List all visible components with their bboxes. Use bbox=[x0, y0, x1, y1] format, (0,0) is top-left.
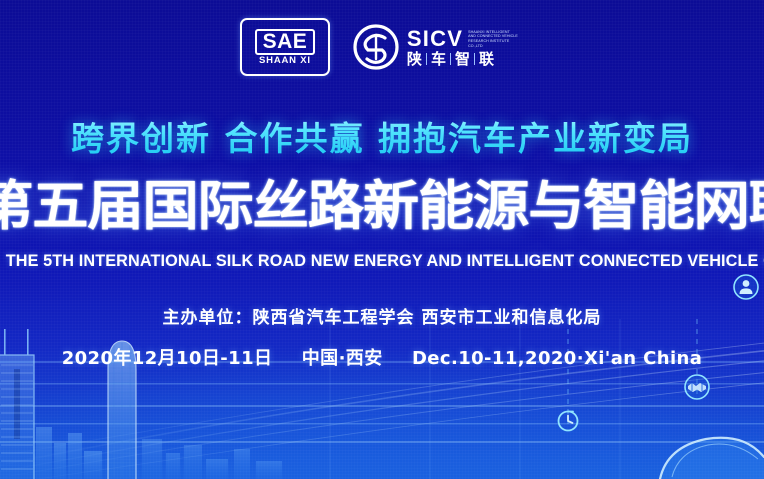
car-silhouette bbox=[660, 438, 764, 479]
person-icon bbox=[731, 272, 761, 302]
sicv-cn-char-2: 车 bbox=[431, 52, 446, 67]
page-title: 第五届国际丝路新能源与智能网联汽车大会 bbox=[0, 178, 764, 235]
vertical-guides bbox=[330, 319, 620, 479]
tagline: 跨界创新 合作共赢 拥抱汽车产业新变局 bbox=[0, 112, 764, 160]
date-en: Dec.10-11,2020·Xi'an China bbox=[412, 348, 702, 369]
handshake-icon bbox=[682, 372, 712, 402]
city-blocks-mid bbox=[142, 439, 282, 479]
sae-shaanxi-logo: SAE SHAAN XI bbox=[240, 18, 330, 76]
sicv-cn-char-3: 智 bbox=[455, 52, 470, 67]
sicv-cn-char-1: 陕 bbox=[407, 52, 422, 67]
city-blocks-left bbox=[36, 427, 102, 479]
sicv-chinese-name: 陕车智联 bbox=[407, 52, 524, 67]
page-subtitle: THE 5TH INTERNATIONAL SILK ROAD NEW ENER… bbox=[6, 252, 759, 271]
conference-banner: SAE SHAAN XI SICV SHAANXI INTELLIGENT AN… bbox=[0, 0, 764, 479]
sae-wordmark: SAE bbox=[263, 30, 308, 53]
city-skyline-graphic bbox=[0, 319, 764, 479]
sicv-logo: SICV SHAANXI INTELLIGENT AND CONNECTED V… bbox=[352, 23, 524, 71]
haze-bands bbox=[0, 361, 764, 443]
place-cn: 中国·西安 bbox=[302, 348, 383, 369]
sicv-cn-char-4: 联 bbox=[479, 52, 494, 67]
sicv-emblem-icon bbox=[352, 23, 400, 71]
sicv-text-block: SICV SHAANXI INTELLIGENT AND CONNECTED V… bbox=[407, 28, 524, 67]
sicv-top-row: SICV SHAANXI INTELLIGENT AND CONNECTED V… bbox=[407, 28, 524, 50]
date-cn: 2020年12月10日-11日 bbox=[62, 348, 273, 369]
sae-wordmark-box: SAE bbox=[255, 29, 316, 55]
sicv-micro-text: SHAANXI INTELLIGENT AND CONNECTED VEHICL… bbox=[468, 28, 524, 49]
clock-icon bbox=[553, 405, 583, 435]
node-connectors bbox=[568, 319, 697, 427]
sicv-wordmark: SICV bbox=[407, 28, 463, 50]
date-location-line: 2020年12月10日-11日 中国·西安 Dec.10-11,2020·Xi'… bbox=[0, 344, 764, 370]
organizer-line: 主办单位：陕西省汽车工程学会 西安市工业和信息化局 bbox=[0, 303, 764, 328]
logo-row: SAE SHAAN XI SICV SHAANXI INTELLIGENT AN… bbox=[0, 16, 764, 78]
sae-subtext: SHAAN XI bbox=[259, 56, 311, 66]
